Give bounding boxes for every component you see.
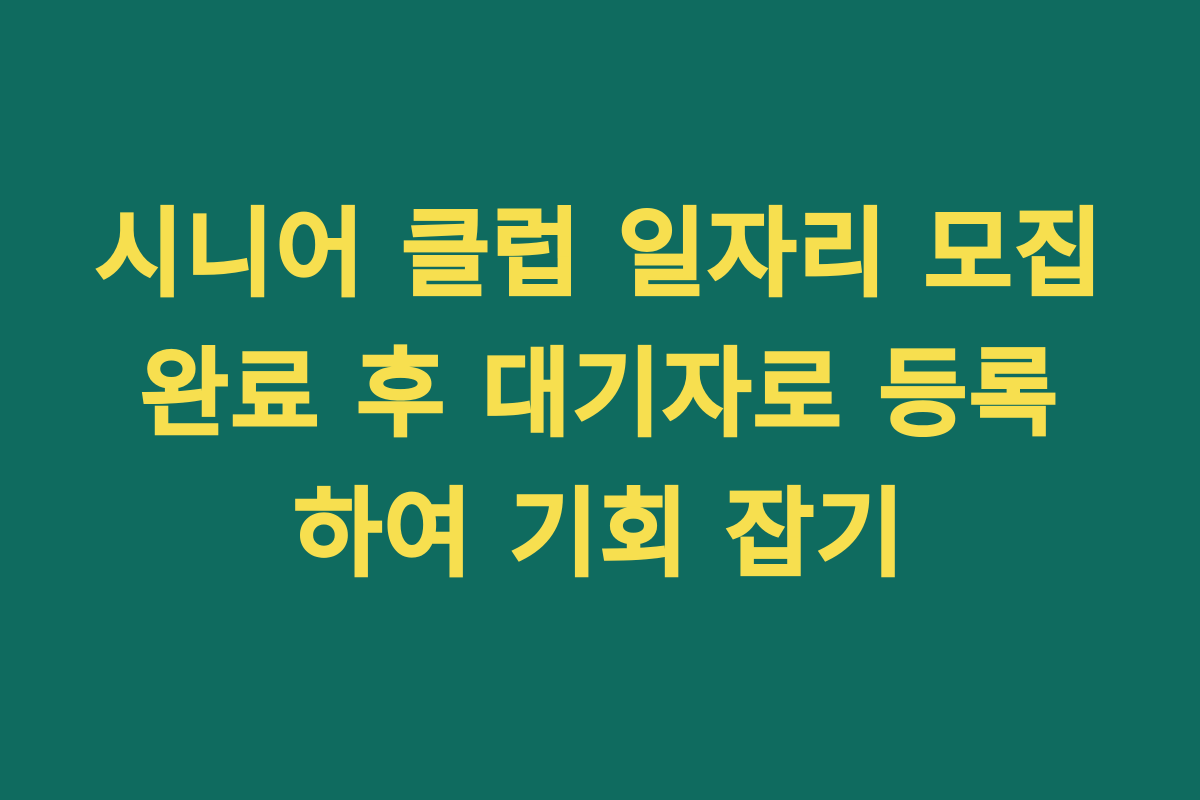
headline-line-2: 완료 후 대기자로 등록 [0, 324, 1200, 464]
poster-canvas: 시니어 클럽 일자리 모집 완료 후 대기자로 등록 하여 기회 잡기 [0, 0, 1200, 800]
headline-block: 시니어 클럽 일자리 모집 완료 후 대기자로 등록 하여 기회 잡기 [0, 184, 1200, 604]
headline-line-3: 하여 기회 잡기 [0, 464, 1200, 604]
headline-line-1: 시니어 클럽 일자리 모집 [0, 184, 1200, 324]
